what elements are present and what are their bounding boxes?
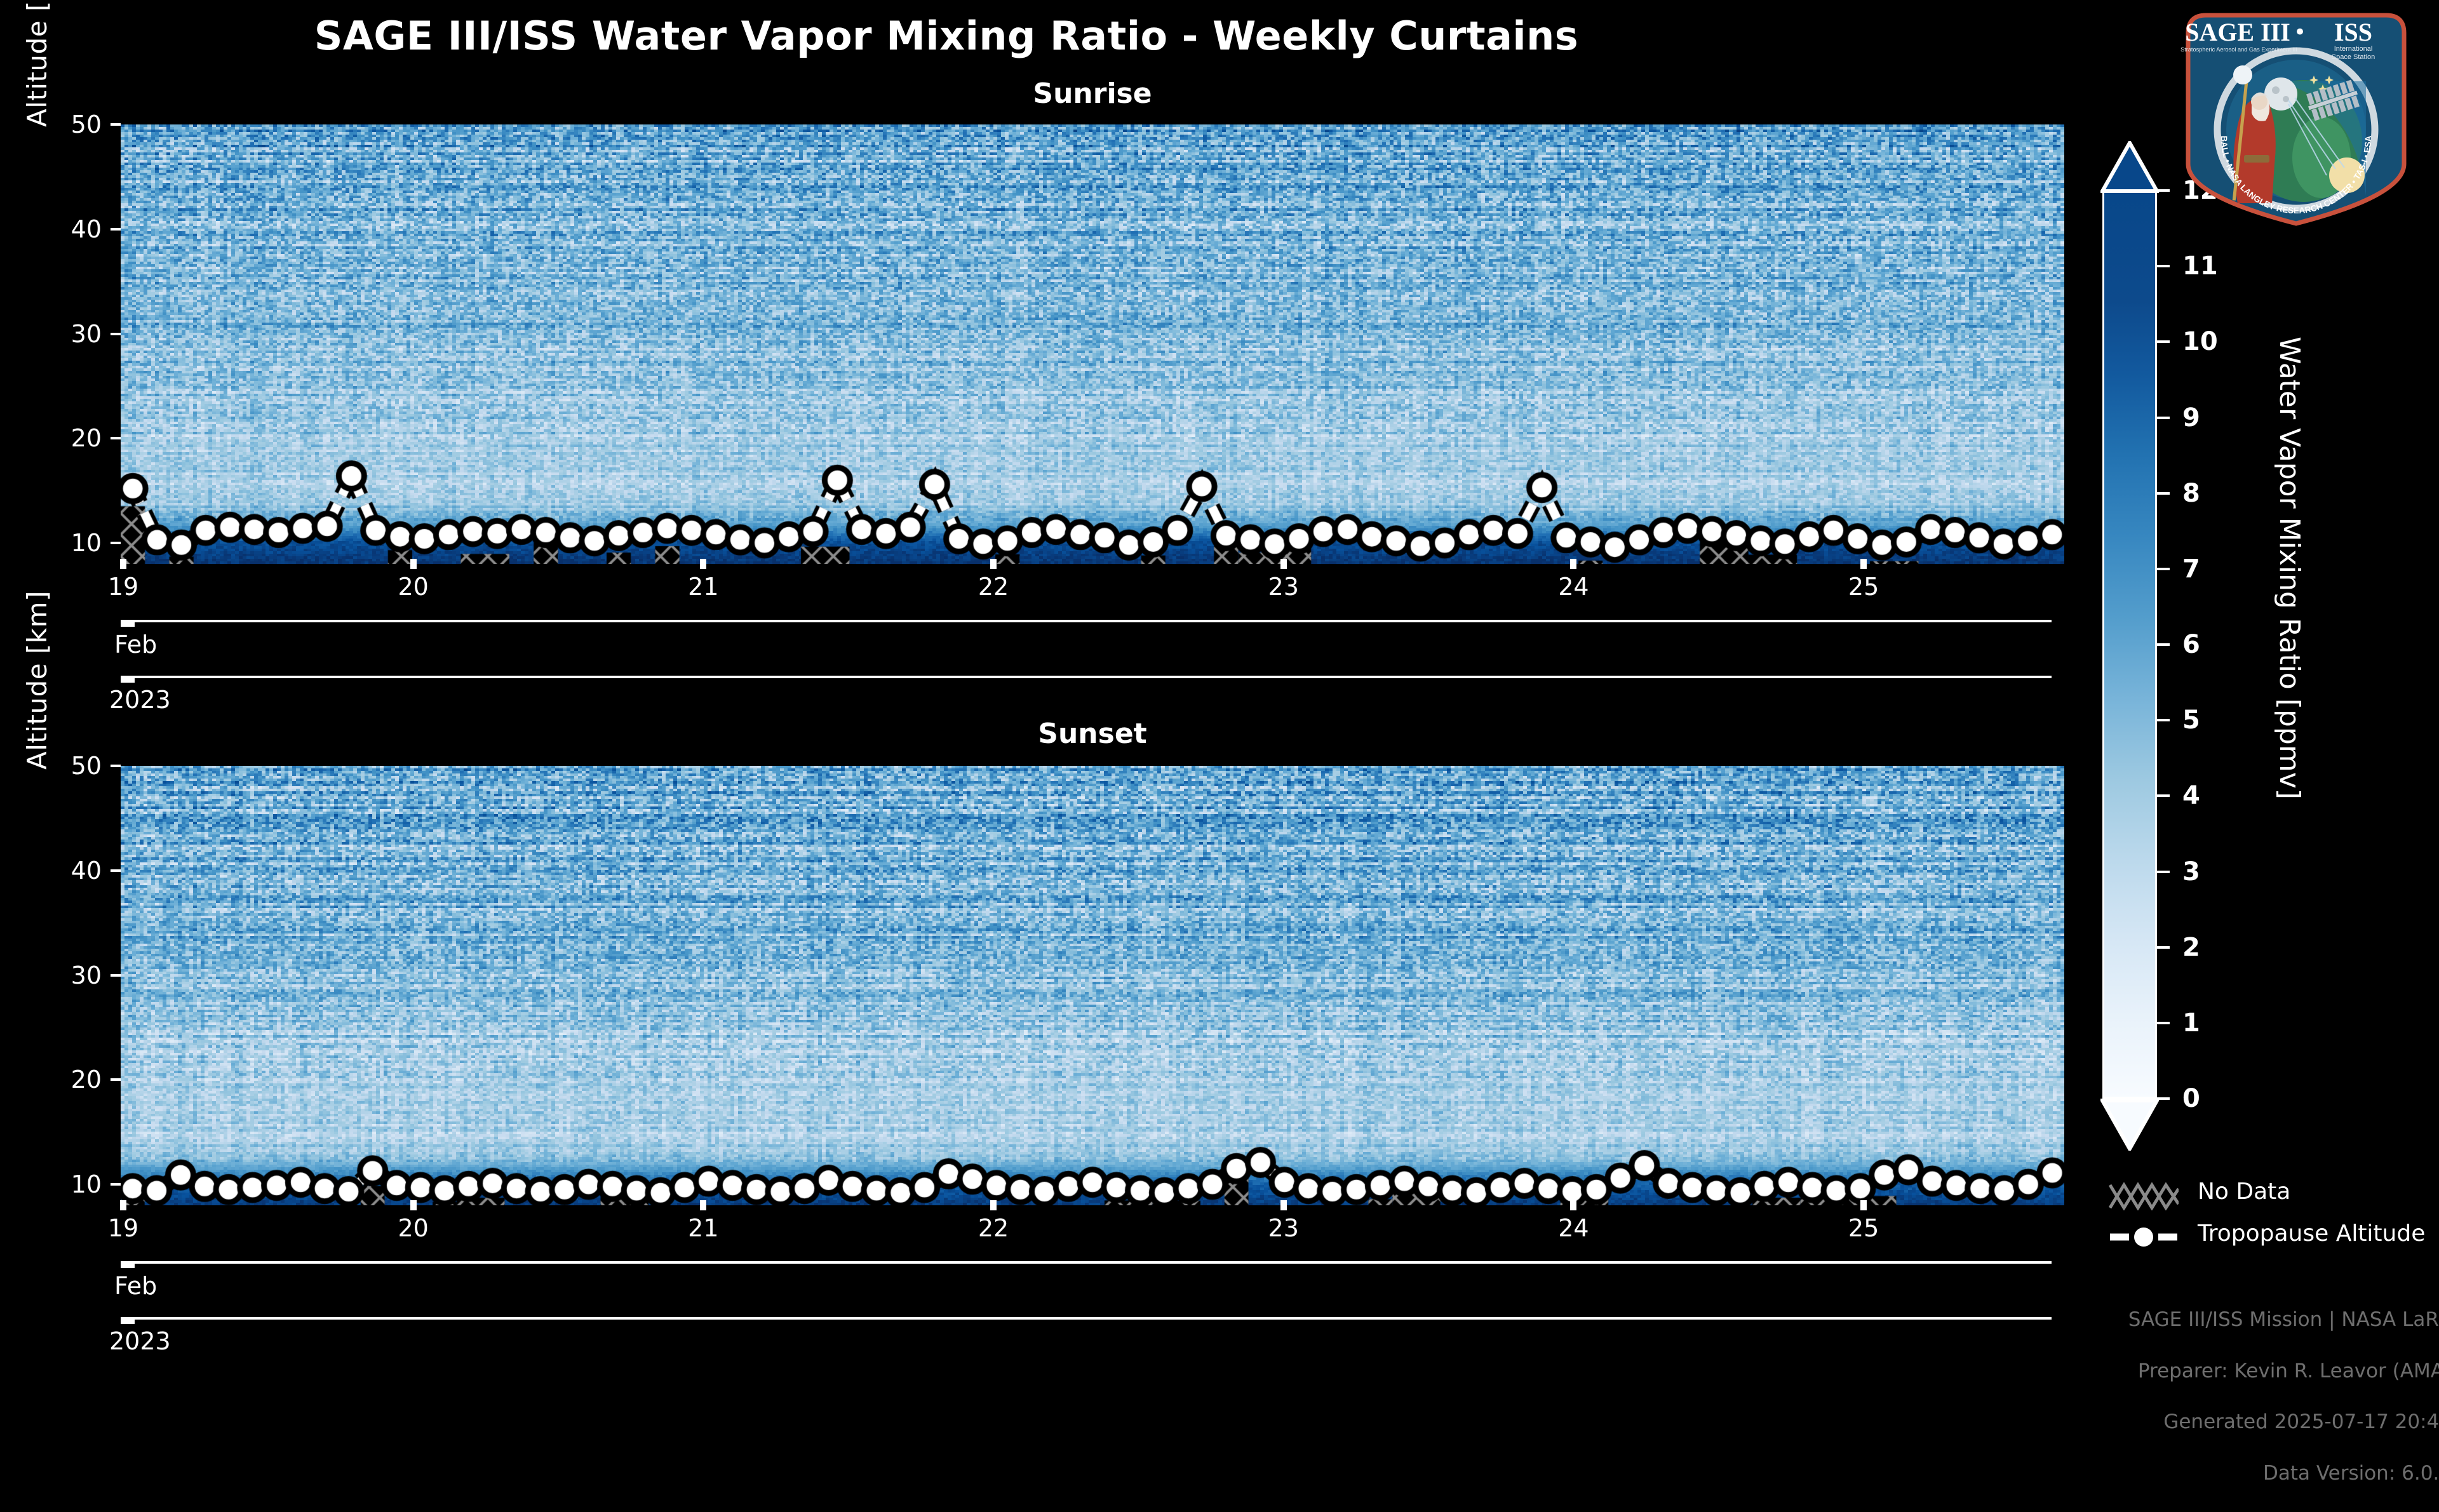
x-tick-label: 19 bbox=[108, 573, 138, 601]
heatmap-sunset[interactable] bbox=[121, 766, 2064, 1205]
x-tick-label: 21 bbox=[688, 1214, 718, 1242]
tropopause-line-icon bbox=[2109, 1224, 2179, 1250]
colorbar[interactable] bbox=[2102, 191, 2157, 1099]
x-tick-mark bbox=[1860, 559, 1867, 569]
colorbar-tick-mark bbox=[2157, 719, 2170, 721]
y-tick-label: 40 bbox=[71, 215, 102, 243]
y-axis-label-text-sunrise: Altitude [km] bbox=[22, 89, 53, 127]
footer-credits: SAGE III/ISS Mission | NASA LaRC Prepare… bbox=[1994, 1281, 2439, 1512]
x-axis-month-separator bbox=[121, 620, 2052, 622]
colorbar-gradient bbox=[2102, 191, 2157, 1099]
x-tick-mark bbox=[990, 1200, 997, 1210]
colorbar-tick-mark bbox=[2157, 871, 2170, 873]
x-axis-year-separator bbox=[121, 676, 2052, 678]
x-tick-label: 24 bbox=[1558, 573, 1589, 601]
y-tick-mark bbox=[111, 869, 121, 872]
tropopause-overlay-sunset bbox=[121, 766, 2064, 1205]
footer-line-3: Generated 2025-07-17 20:45 bbox=[1994, 1409, 2439, 1435]
y-axis-label-text-sunset: Altitude [km] bbox=[22, 732, 53, 770]
footer-line-4: Data Version: 6.0.0 bbox=[1994, 1461, 2439, 1486]
no-data-hatch-icon bbox=[2109, 1182, 2179, 1210]
legend-label-no-data: No Data bbox=[2198, 1179, 2290, 1205]
colorbar-tick-label: 0 bbox=[2182, 1084, 2200, 1113]
y-tick-label: 30 bbox=[71, 320, 102, 348]
colorbar-tick-label: 6 bbox=[2182, 630, 2200, 659]
svg-text:Stratospheric Aerosol and Gas: Stratospheric Aerosol and Gas Experiment… bbox=[2180, 46, 2297, 53]
y-axis-sunrise: 1020304050 bbox=[0, 124, 121, 564]
colorbar-tick-mark bbox=[2157, 794, 2170, 797]
y-tick-label: 40 bbox=[71, 857, 102, 885]
y-tick-mark bbox=[111, 123, 121, 126]
colorbar-tick-label: 4 bbox=[2182, 781, 2200, 810]
y-tick-mark bbox=[111, 228, 121, 231]
colorbar-tick-label: 10 bbox=[2182, 327, 2218, 356]
y-tick-mark bbox=[111, 1078, 121, 1081]
x-axis-year-separator bbox=[121, 1317, 2052, 1320]
colorbar-tick-label: 9 bbox=[2182, 403, 2200, 432]
y-tick-label: 10 bbox=[71, 1170, 102, 1198]
y-tick-label: 50 bbox=[71, 110, 102, 138]
colorbar-tick-mark bbox=[2157, 340, 2170, 343]
colorbar-tick-mark bbox=[2157, 492, 2170, 495]
colorbar-tick-mark bbox=[2157, 568, 2170, 570]
y-tick-label: 20 bbox=[71, 424, 102, 452]
x-tick-mark bbox=[1570, 1200, 1576, 1210]
x-axis-sunset: 19202122232425Feb2023 bbox=[121, 1205, 2064, 1351]
x-tick-label: 19 bbox=[108, 1214, 138, 1242]
colorbar-extend-top-icon bbox=[2100, 141, 2159, 193]
x-tick-mark bbox=[990, 559, 997, 569]
svg-text:•: • bbox=[2294, 20, 2306, 45]
x-tick-mark bbox=[120, 1200, 126, 1210]
y-tick-mark bbox=[111, 437, 121, 439]
x-axis-sunrise: 19202122232425Feb2023 bbox=[121, 564, 2064, 704]
svg-text:International: International bbox=[2334, 45, 2373, 53]
svg-text:SAGE III: SAGE III bbox=[2185, 18, 2290, 46]
footer-line-2: Preparer: Kevin R. Leavor (AMA) bbox=[1994, 1358, 2439, 1384]
x-tick-label: 21 bbox=[688, 573, 718, 601]
x-tick-mark bbox=[1570, 559, 1576, 569]
colorbar-tick-label: 3 bbox=[2182, 857, 2200, 886]
heatmap-sunrise[interactable] bbox=[121, 124, 2064, 564]
x-tick-label: 25 bbox=[1848, 573, 1879, 601]
svg-text:ISS: ISS bbox=[2334, 18, 2372, 46]
x-axis-month-tick bbox=[121, 1261, 135, 1268]
colorbar-tick-label: 1 bbox=[2182, 1008, 2200, 1038]
x-tick-mark bbox=[120, 559, 126, 569]
x-tick-label: 20 bbox=[398, 1214, 428, 1242]
x-tick-label: 23 bbox=[1268, 573, 1299, 601]
colorbar-tick-mark bbox=[2157, 1022, 2170, 1024]
x-tick-mark bbox=[410, 559, 417, 569]
colorbar-tick-mark bbox=[2157, 1097, 2170, 1100]
panel-title-sunset: Sunset bbox=[121, 718, 2064, 750]
colorbar-extend-bottom-icon bbox=[2100, 1099, 2159, 1151]
colorbar-tick-label: 2 bbox=[2182, 933, 2200, 962]
y-tick-mark bbox=[111, 542, 121, 544]
x-axis-year-label: 2023 bbox=[109, 686, 171, 714]
x-axis-month-label: Feb bbox=[114, 631, 157, 659]
x-axis-month-label: Feb bbox=[114, 1272, 157, 1300]
colorbar-ticks: 0123456789101112 bbox=[2157, 191, 2348, 1099]
x-tick-label: 22 bbox=[978, 573, 1009, 601]
y-tick-label: 10 bbox=[71, 529, 102, 557]
sage-iii-iss-logo: SAGE III•ISSStratospheric Aerosol and Ga… bbox=[2163, 5, 2429, 231]
x-axis-year-tick bbox=[121, 1317, 135, 1324]
colorbar-tick-label: 8 bbox=[2182, 479, 2200, 508]
x-tick-label: 22 bbox=[978, 1214, 1009, 1242]
x-axis-month-separator bbox=[121, 1261, 2052, 1264]
page-title: SAGE III/ISS Water Vapor Mixing Ratio - … bbox=[0, 13, 1893, 59]
tropopause-overlay-sunrise bbox=[121, 124, 2064, 564]
colorbar-tick-mark bbox=[2157, 417, 2170, 419]
y-tick-mark bbox=[111, 765, 121, 767]
x-tick-mark bbox=[700, 559, 706, 569]
x-axis-year-tick bbox=[121, 676, 135, 683]
y-tick-label: 20 bbox=[71, 1066, 102, 1094]
colorbar-tick-label: 5 bbox=[2182, 706, 2200, 735]
colorbar-tick-mark bbox=[2157, 643, 2170, 646]
y-tick-mark bbox=[111, 1183, 121, 1186]
svg-text:Space Station: Space Station bbox=[2332, 53, 2375, 61]
colorbar-tick-mark bbox=[2157, 265, 2170, 267]
x-tick-mark bbox=[1280, 559, 1287, 569]
x-axis-month-tick bbox=[121, 620, 135, 627]
y-tick-mark bbox=[111, 974, 121, 977]
x-tick-label: 20 bbox=[398, 573, 428, 601]
colorbar-tick-mark bbox=[2157, 946, 2170, 949]
x-axis-year-label: 2023 bbox=[109, 1327, 171, 1355]
legend-label-tropopause: Tropopause Altitude bbox=[2198, 1221, 2425, 1247]
y-tick-label: 50 bbox=[71, 752, 102, 780]
x-tick-label: 24 bbox=[1558, 1214, 1589, 1242]
footer-line-1: SAGE III/ISS Mission | NASA LaRC bbox=[1994, 1307, 2439, 1332]
legend: No Data Tropopause Altitude bbox=[2096, 1175, 2439, 1257]
panel-title-sunrise: Sunrise bbox=[121, 77, 2064, 110]
x-tick-mark bbox=[700, 1200, 706, 1210]
y-tick-mark bbox=[111, 333, 121, 335]
y-tick-label: 30 bbox=[71, 961, 102, 989]
logo-svg: SAGE III•ISSStratospheric Aerosol and Ga… bbox=[2163, 5, 2429, 231]
colorbar-tick-label: 11 bbox=[2182, 251, 2218, 281]
x-tick-mark bbox=[410, 1200, 417, 1210]
x-tick-label: 23 bbox=[1268, 1214, 1299, 1242]
colorbar-tick-label: 7 bbox=[2182, 554, 2200, 584]
colorbar-label-text: Water Vapor Mixing Ratio [ppmv] bbox=[2273, 337, 2306, 799]
y-axis-sunset: 1020304050 bbox=[0, 766, 121, 1205]
x-tick-mark bbox=[1860, 1200, 1867, 1210]
x-tick-label: 25 bbox=[1848, 1214, 1879, 1242]
x-tick-mark bbox=[1280, 1200, 1287, 1210]
